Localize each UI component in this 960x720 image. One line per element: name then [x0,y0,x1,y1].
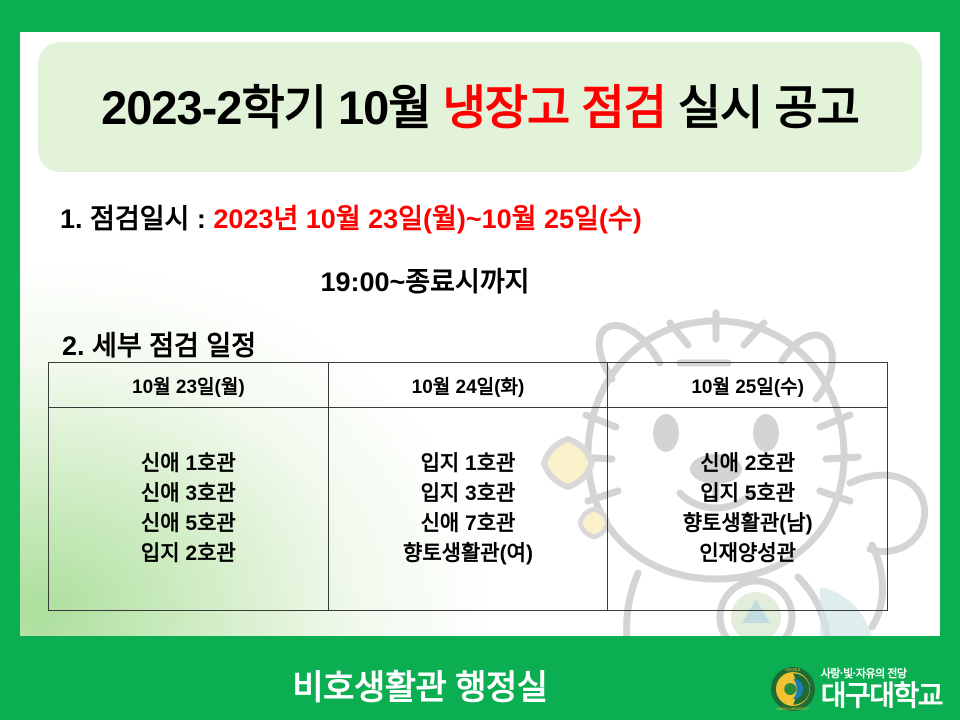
building-item: 입지 3호관 [329,479,608,509]
building-list-day3: 신애 2호관 입지 5호관 향토생활관(남) 인재양성관 [608,449,887,568]
inspection-datetime-line: 1. 점검일시 : 2023년 10월 23일(월)~10월 25일(수) [60,204,920,235]
building-list-day1: 신애 1호관 신애 3호관 신애 5호관 입지 2호관 [49,449,328,568]
daegu-university-seal-icon: 대구대학교 DAEGU UNIVERSITY [770,666,816,712]
announcement-poster: 2023-2학기 10월 냉장고 점검 실시 공고 1. 점검일시 : 2023… [0,0,960,720]
building-item: 입지 5호관 [608,479,887,509]
logo-tagline: 사랑·빛·자유의 전당 [821,669,942,680]
table-cell-day3: 신애 2호관 입지 5호관 향토생활관(남) 인재양성관 [608,408,888,611]
inspection-datetime-value: 2023년 10월 23일(월)~10월 25일(수) [213,204,641,234]
building-item: 신애 5호관 [49,509,328,539]
footer-bar: 비호생활관 행정실 대구대학교 DAEGU UNIVERSITY 사랑·빛·자유… [0,648,960,720]
building-item: 신애 2호관 [608,449,887,479]
schedule-table: 10월 23일(월) 10월 24일(화) 10월 25일(수) 신애 1호관 … [48,362,888,611]
logo-wordmark: 사랑·빛·자유의 전당 대구대학교 [821,669,942,710]
building-item: 입지 2호관 [49,539,328,569]
table-cell-day1: 신애 1호관 신애 3호관 신애 5호관 입지 2호관 [49,408,329,611]
content-panel: 2023-2학기 10월 냉장고 점검 실시 공고 1. 점검일시 : 2023… [20,32,940,636]
title-prefix: 2023-2학기 10월 [101,81,442,134]
title-suffix: 실시 공고 [666,81,859,134]
table-cell-day2: 입지 1호관 입지 3호관 신애 7호관 향토생활관(여) [328,408,608,611]
footer-office-name: 비호생활관 행정실 [292,660,547,709]
building-item: 향토생활관(남) [608,509,887,539]
building-item: 신애 1호관 [49,449,328,479]
table-header-day1: 10월 23일(월) [49,363,329,408]
detailed-schedule-label: 2. 세부 점검 일정 [62,324,256,363]
svg-text:대구대학교: 대구대학교 [785,667,800,672]
building-list-day2: 입지 1호관 입지 3호관 신애 7호관 향토생활관(여) [329,449,608,568]
building-item: 신애 7호관 [329,509,608,539]
title-highlight: 냉장고 점검 [443,81,666,134]
inspection-datetime-label: 1. 점검일시 : [60,204,213,234]
table-header-day2: 10월 24일(화) [328,363,608,408]
building-item: 입지 1호관 [329,449,608,479]
table-row: 신애 1호관 신애 3호관 신애 5호관 입지 2호관 입지 1호관 입지 3호… [49,408,888,611]
building-item: 신애 3호관 [49,479,328,509]
logo-university-name: 대구대학교 [821,682,942,710]
page-title: 2023-2학기 10월 냉장고 점검 실시 공고 [101,84,859,131]
building-item: 인재양성관 [608,539,887,569]
building-item: 향토생활관(여) [329,539,608,569]
inspection-time: 19:00~종료시까지 [60,260,790,299]
table-header-day3: 10월 25일(수) [608,363,888,408]
university-logo: 대구대학교 DAEGU UNIVERSITY 사랑·빛·자유의 전당 대구대학교 [770,666,942,712]
title-banner: 2023-2학기 10월 냉장고 점검 실시 공고 [38,42,922,172]
svg-text:DAEGU UNIVERSITY: DAEGU UNIVERSITY [777,707,810,711]
table-header-row: 10월 23일(월) 10월 24일(화) 10월 25일(수) [49,363,888,408]
